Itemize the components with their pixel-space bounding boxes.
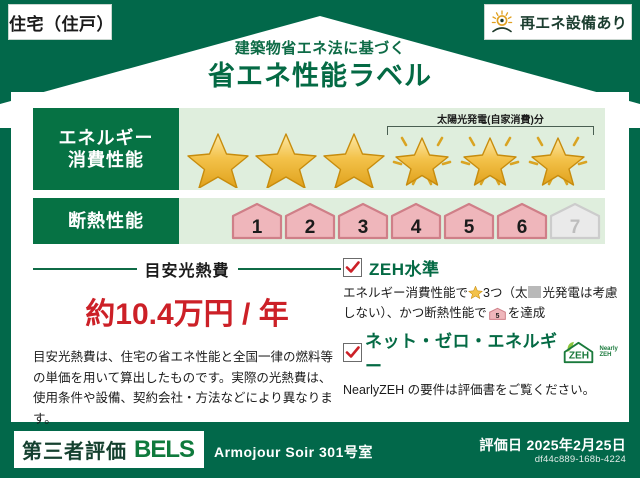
insulation-level-7: 7 bbox=[549, 202, 601, 241]
energy-label-line1: エネルギー bbox=[59, 127, 154, 150]
property-name: Armojour Soir 301号室 bbox=[214, 442, 373, 462]
bels-badge-jp: 第三者評価 bbox=[22, 435, 127, 464]
utility-cost-note: 目安光熱費は、住宅の省エネ性能と全国一律の燃料等の単価を用いて算出したものです。… bbox=[33, 347, 341, 430]
energy-performance-row: エネルギー 消費性能 太陽光発電(自家消費)分 bbox=[33, 108, 605, 190]
solar-bracket-label: 太陽光発電(自家消費)分 bbox=[383, 111, 598, 126]
zeh-standard-title: ZEH水準 bbox=[369, 255, 440, 280]
utility-cost-heading: 目安光熱費 bbox=[33, 257, 341, 281]
sun-with-rays-icon bbox=[489, 9, 515, 35]
bels-badge-mark: BELS bbox=[134, 436, 194, 464]
insulation-level-4: 4 bbox=[390, 202, 442, 241]
insulation-level-3-number: 3 bbox=[358, 217, 369, 238]
zeh-logo-text: ZEH bbox=[569, 350, 589, 361]
rule-right bbox=[238, 268, 342, 270]
insulation-level-2: 2 bbox=[284, 202, 336, 241]
renewable-equipment-label: 再エネ設備あり bbox=[520, 12, 627, 33]
net-zero-energy-head: ネット・ゼロ・エネルギー ZEH Nearly ZEH bbox=[343, 327, 629, 377]
label-title-block: 建築物省エネ法に基づく 省エネ性能ラベル bbox=[0, 40, 640, 94]
insulation-performance-label-box: 断熱性能 bbox=[33, 198, 179, 244]
dwelling-type-label: 住宅（住戸） bbox=[9, 10, 111, 35]
dwelling-type-badge: 住宅（住戸） bbox=[8, 4, 112, 40]
insulation-performance-value-box: 1 2 3 4 5 bbox=[179, 198, 605, 244]
insulation-level-badge-number: 5 bbox=[495, 313, 499, 320]
lower-content: 目安光熱費 約10.4万円 / 年 目安光熱費は、住宅の省エネ性能と全国一律の燃… bbox=[11, 255, 629, 430]
net-zero-energy-desc: NearlyZEH の要件は評価書をご覧ください。 bbox=[343, 380, 629, 400]
insulation-level-1-number: 1 bbox=[252, 217, 263, 238]
zeh-standard-block: ZEH水準 エネルギー消費性能で3つ（太光発電は考慮しない）、かつ断熱性能で5を… bbox=[343, 255, 629, 323]
insulation-level-6-number: 6 bbox=[517, 217, 528, 238]
energy-star-rating bbox=[185, 126, 591, 188]
insulation-level-3: 3 bbox=[337, 202, 389, 241]
net-zero-energy-block: ネット・ゼロ・エネルギー ZEH Nearly ZEH NearlyZEH の要… bbox=[343, 327, 629, 400]
energy-performance-value-box: 太陽光発電(自家消費)分 bbox=[179, 108, 605, 190]
star-icon bbox=[321, 126, 387, 188]
insulation-level-5-number: 5 bbox=[464, 217, 475, 238]
zeh-desc-part2: 3つ（太 bbox=[483, 286, 527, 300]
insulation-level-5: 5 bbox=[443, 202, 495, 241]
star-solar-icon bbox=[389, 126, 455, 188]
title-subtitle: 建築物省エネ法に基づく bbox=[0, 40, 640, 58]
star-solar-icon bbox=[525, 126, 591, 188]
bels-badge: 第三者評価 BELS bbox=[14, 431, 204, 468]
energy-performance-label-box: エネルギー 消費性能 bbox=[33, 108, 179, 190]
check-icon bbox=[343, 343, 362, 362]
zeh-logo-sub: Nearly ZEH bbox=[600, 346, 630, 359]
insulation-level-6: 6 bbox=[496, 202, 548, 241]
utility-cost-heading-text: 目安光熱費 bbox=[145, 257, 230, 281]
insulation-performance-row: 断熱性能 1 2 3 bbox=[33, 198, 605, 244]
label-footer: 第三者評価 BELS Armojour Soir 301号室 評価日 2025年… bbox=[0, 422, 640, 478]
star-icon bbox=[185, 126, 251, 188]
insulation-level-badge: 5 bbox=[489, 307, 506, 321]
insulation-level-7-number: 7 bbox=[570, 217, 581, 238]
insulation-level-1: 1 bbox=[231, 202, 283, 241]
star-icon bbox=[253, 126, 319, 188]
utility-cost-value: 約10.4万円 / 年 bbox=[33, 289, 341, 333]
evaluation-id: df44c889-168b-4224 bbox=[535, 454, 626, 465]
check-icon bbox=[343, 258, 362, 277]
star-solar-icon bbox=[457, 126, 523, 188]
renewable-equipment-badge: 再エネ設備あり bbox=[484, 4, 632, 40]
net-zero-energy-title: ネット・ゼロ・エネルギー bbox=[365, 327, 558, 377]
zeh-desc-part1: エネルギー消費性能で bbox=[343, 286, 468, 300]
label-body-panel: エネルギー 消費性能 太陽光発電(自家消費)分 bbox=[11, 92, 629, 422]
utility-cost-section: 目安光熱費 約10.4万円 / 年 目安光熱費は、住宅の省エネ性能と全国一律の燃… bbox=[11, 255, 341, 430]
rule-left bbox=[33, 268, 137, 270]
zeh-section: ZEH水準 エネルギー消費性能で3つ（太光発電は考慮しない）、かつ断熱性能で5を… bbox=[341, 255, 629, 430]
star-icon bbox=[468, 284, 483, 299]
zeh-standard-head: ZEH水準 bbox=[343, 255, 629, 280]
insulation-level-4-number: 4 bbox=[411, 217, 422, 238]
insulation-level-2-number: 2 bbox=[305, 217, 316, 238]
energy-performance-label: 住宅（住戸） 再エネ設備あり 建築物省エネ法に基づく 省エネ性能ラベル bbox=[0, 0, 640, 478]
title-main: 省エネ性能ラベル bbox=[0, 60, 640, 94]
zeh-house-logo-icon: ZEH bbox=[561, 339, 596, 366]
energy-label-line2: 消費性能 bbox=[59, 149, 154, 172]
evaluation-date: 評価日 2025年2月25日 bbox=[479, 435, 626, 455]
insulation-level-scale: 1 2 3 4 5 bbox=[231, 202, 601, 241]
zeh-standard-desc: エネルギー消費性能で3つ（太光発電は考慮しない）、かつ断熱性能で5を達成 bbox=[343, 283, 629, 323]
redacted-block bbox=[528, 286, 541, 298]
zeh-desc-part4: を達成 bbox=[508, 306, 546, 320]
